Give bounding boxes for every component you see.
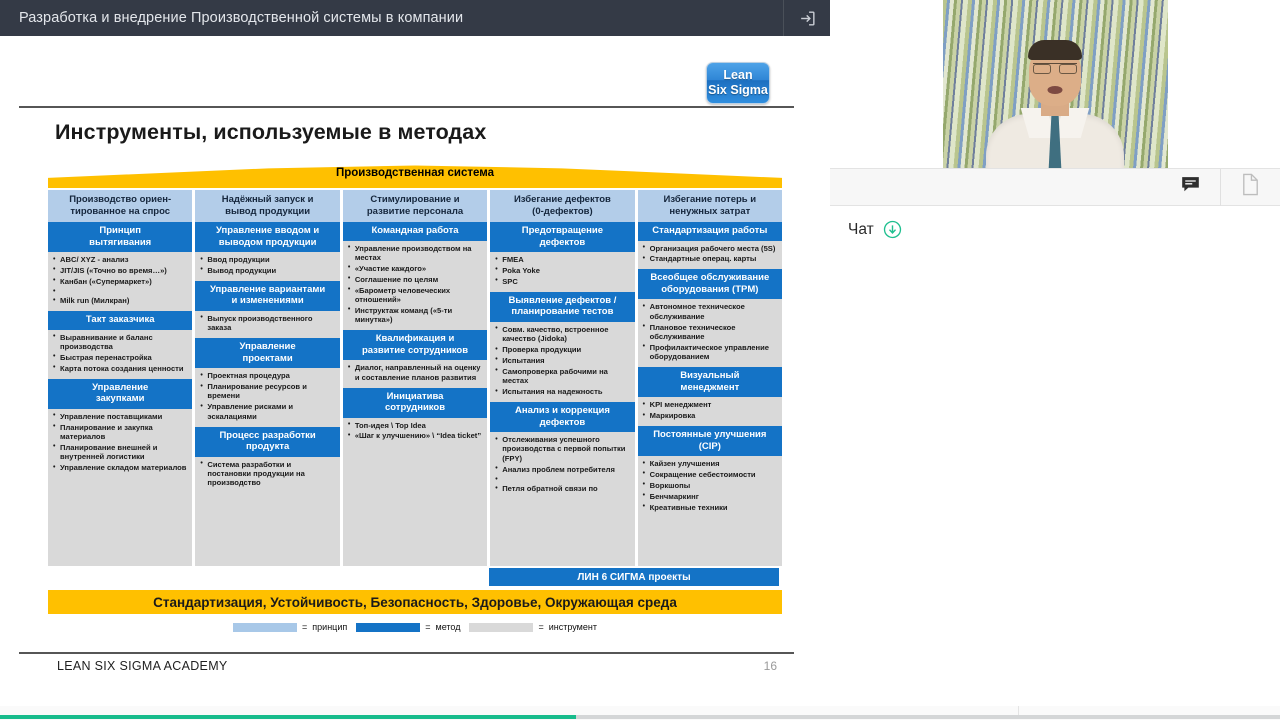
list-item: Воркшопы (643, 481, 778, 490)
list-item: Диалог, направленный на оценку и составл… (348, 363, 483, 382)
list-item: Анализ проблем потребителя (495, 465, 630, 474)
section-items: ABC/ XYZ - анализJIT/JIS («Точно во врем… (48, 252, 192, 311)
list-item: «Шаг к улучшению» \ “Idea ticket” (348, 431, 483, 440)
section-items: Управление производством на местах«Участ… (343, 241, 487, 331)
slide-title: Инструменты, используемые в методах (55, 120, 486, 145)
column-header: Производство ориен-тированное на спрос (48, 190, 192, 222)
section-header: Управлениепроектами (195, 338, 339, 368)
section-header: Анализ и коррекциядефектов (490, 402, 634, 432)
list-item: Маркировка (643, 411, 778, 420)
logo-line-2: Six Sigma (708, 83, 768, 98)
slide-header-divider (19, 106, 794, 108)
diagram-column: Производство ориен-тированное на спросПр… (48, 190, 192, 566)
legend-swatch (469, 623, 533, 632)
section-items: KPI менеджментМаркировка (638, 397, 782, 426)
legend-equals: = (302, 622, 307, 632)
list-item: Кайзен улучшения (643, 459, 778, 468)
chat-panel: Чат (830, 206, 1280, 706)
playback-bar (0, 706, 1280, 720)
legend-swatch (233, 623, 297, 632)
list-item: Стандартные операц. карты (643, 254, 778, 263)
section-items: Выпуск производственного заказа (195, 311, 339, 338)
list-item: Управление производством на местах (348, 244, 483, 263)
legend-label: принцип (312, 622, 347, 632)
logo-line-1: Lean (723, 68, 752, 83)
legend-equals: = (425, 622, 430, 632)
diagram-foundation: Стандартизация, Устойчивость, Безопаснос… (48, 590, 782, 614)
column-header: Надёжный запуск ивывод продукции (195, 190, 339, 222)
list-item: Система разработки и постановки продукци… (200, 460, 335, 488)
diagram-roof: Производственная система (48, 164, 782, 188)
footer-page-number: 16 (764, 659, 777, 673)
section-header: Предотвращениедефектов (490, 222, 634, 252)
list-item: FMEA (495, 255, 630, 264)
column-header: Стимулирование иразвитие персонала (343, 190, 487, 222)
section-items: Автономное техническое обслуживаниеПлано… (638, 299, 782, 367)
chat-tab-button[interactable] (1160, 169, 1220, 206)
list-item: Организация рабочего места (5S) (643, 244, 778, 253)
legend-item: =инструмент (469, 622, 596, 632)
column-filler (48, 478, 192, 566)
list-item: Выравнивание и баланс производства (53, 333, 188, 352)
list-item: Плановое техническое обслуживание (643, 323, 778, 342)
footer-brand: LEAN SIX SIGMA ACADEMY (57, 659, 228, 673)
lean-six-sigma-logo: Lean Six Sigma (706, 62, 770, 104)
section-items: Диалог, направленный на оценку и составл… (343, 360, 487, 387)
list-item: Планирование и закупка материалов (53, 423, 188, 442)
column-header: Избегание потерь иненужных затрат (638, 190, 782, 222)
list-item: Креативные техники (643, 503, 778, 512)
legend-swatch (356, 623, 420, 632)
legend-item: =метод (356, 622, 460, 632)
diagram-column: Надёжный запуск ивывод продукцииУправлен… (195, 190, 339, 566)
list-item: Соглашение по целям (348, 275, 483, 284)
right-panel: Чат (830, 0, 1280, 706)
section-header: Процесс разработкипродукта (195, 427, 339, 457)
webinar-player: Разработка и внедрение Производственной … (0, 0, 1280, 720)
column-filler (638, 518, 782, 566)
list-item: Управление складом материалов (53, 463, 188, 472)
diagram-column: Избегание потерь иненужных затратСтандар… (638, 190, 782, 566)
list-item: Канбан («Супермаркет») (53, 277, 188, 286)
section-header: Командная работа (343, 222, 487, 241)
slide-viewer: Разработка и внедрение Производственной … (0, 0, 830, 706)
list-item: Профилактическое управление оборудование… (643, 343, 778, 362)
diagram-column: Стимулирование иразвитие персоналаКоманд… (343, 190, 487, 566)
chat-header: Чат (830, 206, 1280, 239)
section-header: Управление вариантамии изменениями (195, 281, 339, 311)
section-header: Всеобщее обслуживаниеоборудования (TPM) (638, 269, 782, 299)
roof-label: Производственная система (48, 167, 782, 179)
section-items: Выравнивание и баланс производстваБыстра… (48, 330, 192, 379)
presenter-video-container[interactable] (830, 0, 1280, 168)
slide-footer-divider (19, 652, 794, 654)
list-item: Испытания (495, 356, 630, 365)
list-item: Инструктаж команд («5-ти минутка») (348, 306, 483, 325)
section-items: Управление поставщикамиПланирование и за… (48, 409, 192, 478)
section-items: Ввод продукцииВывод продукции (195, 252, 339, 281)
diagram-legend: =принцип=метод=инструмент (48, 620, 782, 634)
list-item: «Участие каждого» (348, 264, 483, 273)
window-titlebar: Разработка и внедрение Производственной … (0, 0, 830, 36)
window-title: Разработка и внедрение Производственной … (0, 10, 463, 26)
section-header: Инициативасотрудников (343, 388, 487, 418)
list-item: «Барометр человеческих отношений» (348, 286, 483, 305)
section-header: Управление вводом ивыводом продукции (195, 222, 339, 252)
section-header: Выявление дефектов /планирование тестов (490, 292, 634, 322)
lean-six-sigma-projects-bar: ЛИН 6 СИГМА проекты (489, 568, 779, 586)
section-header: Постоянные улучшения(CIP) (638, 426, 782, 456)
section-items: Проектная процедураПланирование ресурсов… (195, 368, 339, 427)
column-filler (490, 499, 634, 566)
list-item: Автономное техническое обслуживание (643, 302, 778, 321)
section-header: Управлениезакупками (48, 379, 192, 409)
legend-label: метод (436, 622, 461, 632)
list-item: Проверка продукции (495, 345, 630, 354)
section-items: Система разработки и постановки продукци… (195, 457, 339, 494)
list-item: Планирование ресурсов и времени (200, 382, 335, 401)
list-item: Ввод продукции (200, 255, 335, 264)
production-system-diagram: Производственная система Производство ор… (48, 164, 782, 629)
list-item: ABC/ XYZ - анализ (53, 255, 188, 264)
diagram-columns: Производство ориен-тированное на спросПр… (48, 190, 782, 566)
list-item: Poka Yoke (495, 266, 630, 275)
list-item: KPI менеджмент (643, 400, 778, 409)
chat-icon (1180, 174, 1201, 200)
panel-toolbar (830, 168, 1280, 206)
scroll-to-bottom-icon[interactable] (883, 220, 902, 239)
list-item: Испытания на надежность (495, 387, 630, 396)
section-items: Топ-идея \ Top Idea«Шаг к улучшению» \ “… (343, 418, 487, 447)
list-item (53, 288, 188, 295)
list-item: JIT/JIS («Точно во время…») (53, 266, 188, 275)
chat-title: Чат (848, 221, 874, 239)
list-item: Планирование внешней и внутренней логист… (53, 443, 188, 462)
list-item: Сокращение себестоимости (643, 470, 778, 479)
legend-label: инструмент (549, 622, 597, 632)
list-item: Карта потока создания ценности (53, 364, 188, 373)
list-item: Отслеживания успешного производства с пе… (495, 435, 630, 463)
list-item: Управление рисками и эскалациями (200, 402, 335, 421)
section-header: Стандартизация работы (638, 222, 782, 241)
presenter-figure (943, 48, 1168, 168)
column-filler (195, 493, 339, 566)
section-items: Совм. качество, встроенное качество (Jid… (490, 322, 634, 402)
list-item: Петля обратной связи по (495, 484, 630, 493)
section-items: Организация рабочего места (5S)Стандартн… (638, 241, 782, 270)
list-item: Бенчмаркинг (643, 492, 778, 501)
slide-canvas[interactable]: Lean Six Sigma Инструменты, используемые… (0, 36, 830, 706)
section-header: Принципвытягивания (48, 222, 192, 252)
column-header: Избегание дефектов(0-дефектов) (490, 190, 634, 222)
document-icon (1240, 173, 1261, 201)
progress-fill (0, 715, 576, 719)
slide-footer: LEAN SIX SIGMA ACADEMY 16 (57, 659, 777, 673)
section-header: Такт заказчика (48, 311, 192, 330)
presenter-webcam-video[interactable] (943, 0, 1168, 168)
list-item: Проектная процедура (200, 371, 335, 380)
section-header: Визуальныйменеджмент (638, 367, 782, 397)
list-item (495, 476, 630, 483)
list-item: Выпуск производственного заказа (200, 314, 335, 333)
legend-equals: = (538, 622, 543, 632)
list-item: Вывод продукции (200, 266, 335, 275)
list-item: Быстрая перенастройка (53, 353, 188, 362)
documents-tab-button[interactable] (1220, 169, 1280, 206)
list-item: SPC (495, 277, 630, 286)
list-item: Совм. качество, встроенное качество (Jid… (495, 325, 630, 344)
section-items: FMEAPoka YokeSPC (490, 252, 634, 292)
exit-arrow-icon (798, 9, 817, 28)
list-item: Самопроверка рабочими на местах (495, 367, 630, 386)
section-items: Кайзен улучшенияСокращение себестоимости… (638, 456, 782, 518)
exit-button[interactable] (783, 0, 830, 36)
section-items: Отслеживания успешного производства с пе… (490, 432, 634, 499)
legend-item: =принцип (233, 622, 347, 632)
column-filler (343, 446, 487, 566)
list-item: Топ-идея \ Top Idea (348, 421, 483, 430)
list-item: Milk run (Милкран) (53, 296, 188, 305)
section-header: Квалификация иразвитие сотрудников (343, 330, 487, 360)
diagram-column: Избегание дефектов(0-дефектов)Предотвращ… (490, 190, 634, 566)
bottom-separator (1018, 706, 1019, 715)
list-item: Управление поставщиками (53, 412, 188, 421)
